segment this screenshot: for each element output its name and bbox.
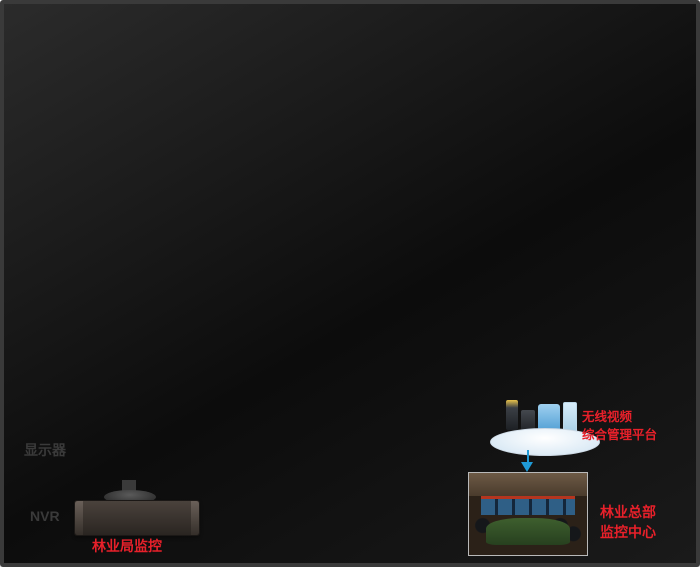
label-hq-line2: 监控中心 [600,524,656,540]
control-room-photo [468,472,588,556]
platform-to-room-arrow [521,462,533,472]
label-platform-line1: 无线视频 [582,410,632,424]
monitor-screen [0,0,700,567]
label-hq-line1: 林业总部 [600,504,656,520]
management-platform-illustration [490,398,598,456]
platform-server-1 [506,400,518,430]
monitor-display [0,0,100,68]
room-video-wall [481,496,575,515]
room-table [486,518,571,545]
label-monitor: 显示器 [24,442,66,458]
diagram-canvas: 森林防火无线视频监控系统 腾远智拓 SUNTOR IP 摄像头 网线连接 ST5… [0,0,700,567]
nvr-device [74,500,200,536]
room-ceiling [469,473,587,496]
label-nvr: NVR [30,508,60,524]
label-platform-line2: 综合管理平台 [582,428,657,442]
label-forestry-bureau: 林业局监控 [92,538,162,554]
